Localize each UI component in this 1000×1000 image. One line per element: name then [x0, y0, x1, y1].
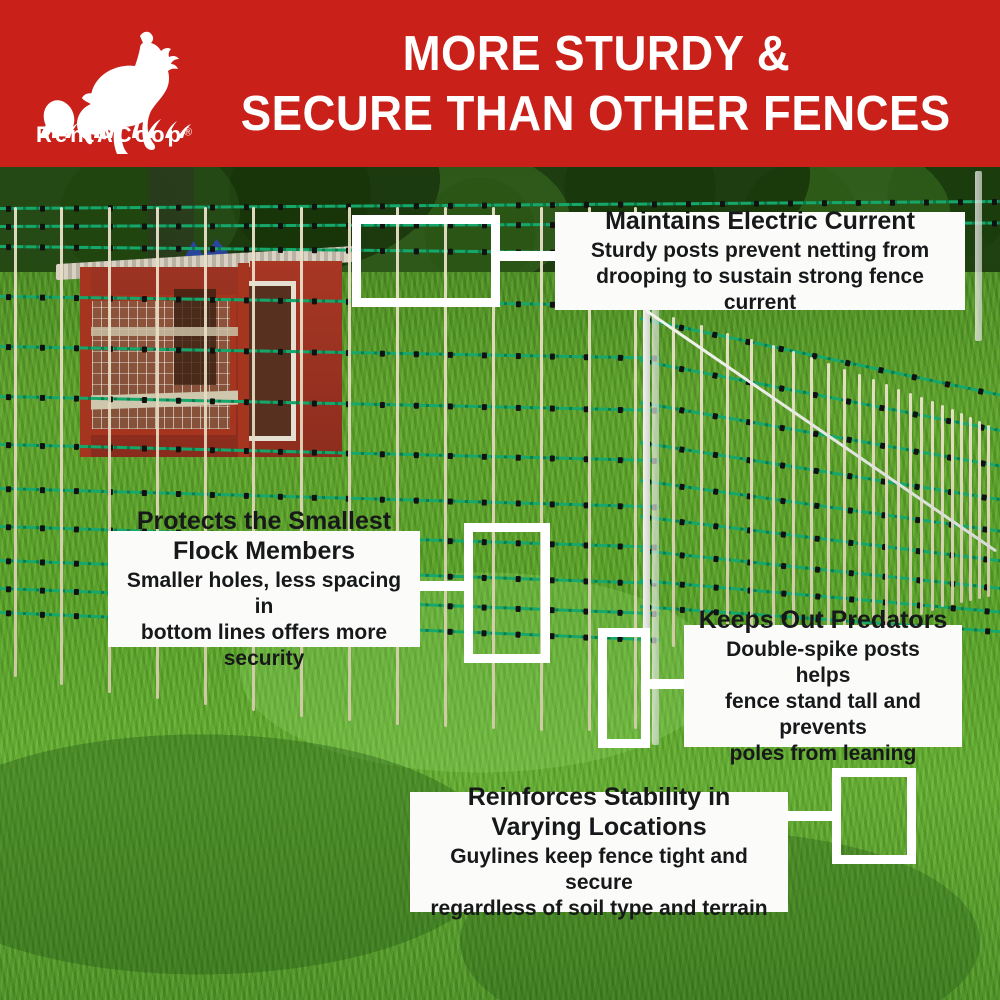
- callout-title: Maintains Electric Current: [605, 206, 915, 236]
- guyline: [645, 309, 997, 552]
- net-wire: [0, 443, 660, 462]
- callout-body-line: Sturdy posts prevent netting from: [569, 238, 951, 264]
- callout-title: Keeps Out Predators: [699, 605, 948, 635]
- infographic-root: RentACoop® MORE STURDY & SECURE THAN OTH…: [0, 0, 1000, 1000]
- net-strut: [14, 207, 17, 677]
- highlight-netting-top: [352, 215, 500, 307]
- callout-body-line: poles from leaning: [698, 741, 948, 767]
- callout-title-line: Reinforces Stability in: [468, 783, 731, 811]
- net-strut: [969, 417, 972, 601]
- highlight-small-holes: [464, 523, 550, 663]
- net-strut: [885, 384, 888, 626]
- callout-body-line: regardless of soil type and terrain: [424, 896, 774, 922]
- headline-line-1: MORE STURDY &: [402, 24, 790, 84]
- connector-to-callout-4: [786, 811, 838, 821]
- net-wire: [640, 359, 1000, 434]
- net-strut: [978, 421, 981, 599]
- net-strut: [810, 357, 813, 639]
- net-wire: [640, 317, 1000, 399]
- callout-body-line: fence stand tall and prevents: [698, 689, 948, 741]
- net-strut: [700, 325, 703, 647]
- net-strut: [897, 389, 900, 623]
- callout-body: Sturdy posts prevent netting from droopi…: [569, 238, 951, 316]
- rentacoop-logo: RentACoop®: [32, 26, 200, 154]
- callout-keeps-out-predators[interactable]: Keeps Out Predators Double-spike posts h…: [684, 625, 962, 747]
- callout-body-line: drooping to sustain strong fence current: [569, 264, 951, 316]
- net-strut: [909, 393, 912, 619]
- net-strut: [951, 409, 954, 605]
- net-strut: [772, 345, 775, 643]
- net-strut: [858, 374, 861, 632]
- brand-wordmark: RentACoop: [36, 122, 184, 147]
- callout-title: Protects the Smallest Flock Members: [122, 506, 406, 566]
- headline: MORE STURDY & SECURE THAN OTHER FENCES: [210, 24, 982, 144]
- net-strut: [726, 333, 729, 647]
- net-strut: [60, 207, 63, 685]
- net-strut: [941, 405, 944, 607]
- net-wire: [640, 441, 1000, 503]
- net-strut: [672, 317, 675, 647]
- callout-body: Guylines keep fence tight and secure reg…: [424, 844, 774, 922]
- highlight-guyline-anchor: [832, 768, 916, 864]
- net-strut: [843, 369, 846, 635]
- net-strut: [872, 379, 875, 629]
- net-strut: [920, 397, 923, 615]
- connector-to-callout-1: [496, 251, 560, 261]
- net-wire: [0, 395, 660, 412]
- header-banner: RentACoop® MORE STURDY & SECURE THAN OTH…: [0, 0, 1000, 167]
- callout-body-line: Guylines keep fence tight and secure: [424, 844, 774, 896]
- registered-mark: ®: [184, 127, 192, 139]
- callout-body: Smaller holes, less spacing in bottom li…: [122, 568, 406, 672]
- highlight-post-spike: [598, 628, 650, 748]
- net-wire: [640, 401, 1000, 470]
- net-strut: [960, 413, 963, 603]
- callout-title-line: Varying Locations: [491, 813, 706, 841]
- callout-protects-smallest-flock-members[interactable]: Protects the Smallest Flock Members Smal…: [108, 531, 420, 647]
- net-strut: [792, 351, 795, 641]
- headline-line-2: SECURE THAN OTHER FENCES: [241, 84, 951, 144]
- fence-post-far: [975, 171, 982, 341]
- net-wire: [0, 345, 660, 360]
- net-strut: [987, 425, 990, 597]
- callout-body-line: bottom lines offers more security: [122, 620, 406, 672]
- net-wire: [640, 479, 1000, 535]
- callout-title: Reinforces Stability in Varying Location…: [424, 782, 774, 842]
- callout-title-line: Protects the Smallest: [137, 507, 391, 535]
- callout-maintains-electric-current[interactable]: Maintains Electric Current Sturdy posts …: [555, 212, 965, 310]
- callout-body-line: Smaller holes, less spacing in: [122, 568, 406, 620]
- callout-body-line: Double-spike posts helps: [698, 637, 948, 689]
- callout-body: Double-spike posts helps fence stand tal…: [698, 637, 948, 767]
- callout-reinforces-stability[interactable]: Reinforces Stability in Varying Location…: [410, 792, 788, 912]
- callout-title-line: Flock Members: [173, 537, 355, 565]
- net-strut: [827, 363, 830, 637]
